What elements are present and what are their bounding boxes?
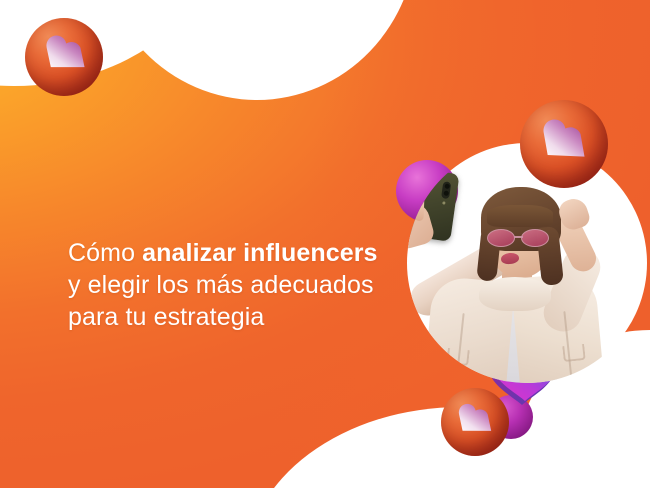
sphere-top-left [25,18,103,96]
heart-icon [520,100,608,188]
model-jacket-pocket-left [446,348,470,366]
sunglasses-lens-right [521,229,549,247]
phone-camera-icon [441,181,451,199]
sphere-top-right [520,100,608,188]
page-title: Cómo analizar influencers y elegir los m… [68,238,378,333]
headline-regular-part: Cómo [68,239,142,267]
sunglasses-icon [485,229,555,247]
sunglasses-lens-left [487,229,515,247]
headline-line-1: Cómo analizar influencers [68,238,378,270]
model-finger-3 [415,195,425,221]
headline-line-2: y elegir los más adecuados [68,270,378,302]
heart-icon [25,18,103,96]
sunglasses-bridge [514,236,523,238]
headline-line-3: para tu estrategia [68,302,378,334]
model-bangs [487,205,553,227]
model-jacket-pocket-right [562,344,586,362]
phone-flash-icon [442,201,445,204]
cover-canvas: Cómo analizar influencers y elegir los m… [0,0,650,488]
headline-bold-part: analizar influencers [142,239,377,267]
model-jacket-collar [479,277,551,311]
